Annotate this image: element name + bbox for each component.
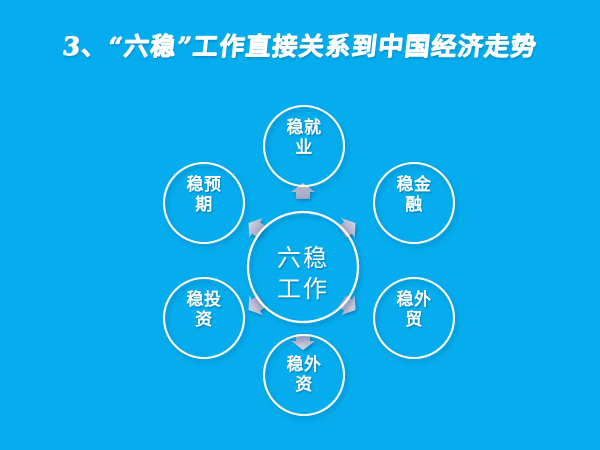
circle-group xyxy=(164,106,454,415)
six-stabilities-diagram: 六稳 工作 稳就 业 稳金 融 稳外 贸 稳外 资 稳投 资 稳预 期 xyxy=(0,0,600,450)
center-circle-six-stabilities[interactable] xyxy=(248,212,358,322)
node-circle-stable-expectations[interactable] xyxy=(164,163,244,243)
arrow-group xyxy=(242,183,362,350)
slide-canvas: 3、“六稳”工作直接关系到中国经济走势 xyxy=(0,0,600,450)
node-circle-stable-foreign-trade[interactable] xyxy=(374,278,454,358)
node-circle-stable-employment[interactable] xyxy=(264,106,344,186)
node-circle-stable-finance[interactable] xyxy=(374,163,454,243)
node-circle-stable-investment[interactable] xyxy=(164,278,244,358)
diagram-canvas xyxy=(0,0,600,450)
